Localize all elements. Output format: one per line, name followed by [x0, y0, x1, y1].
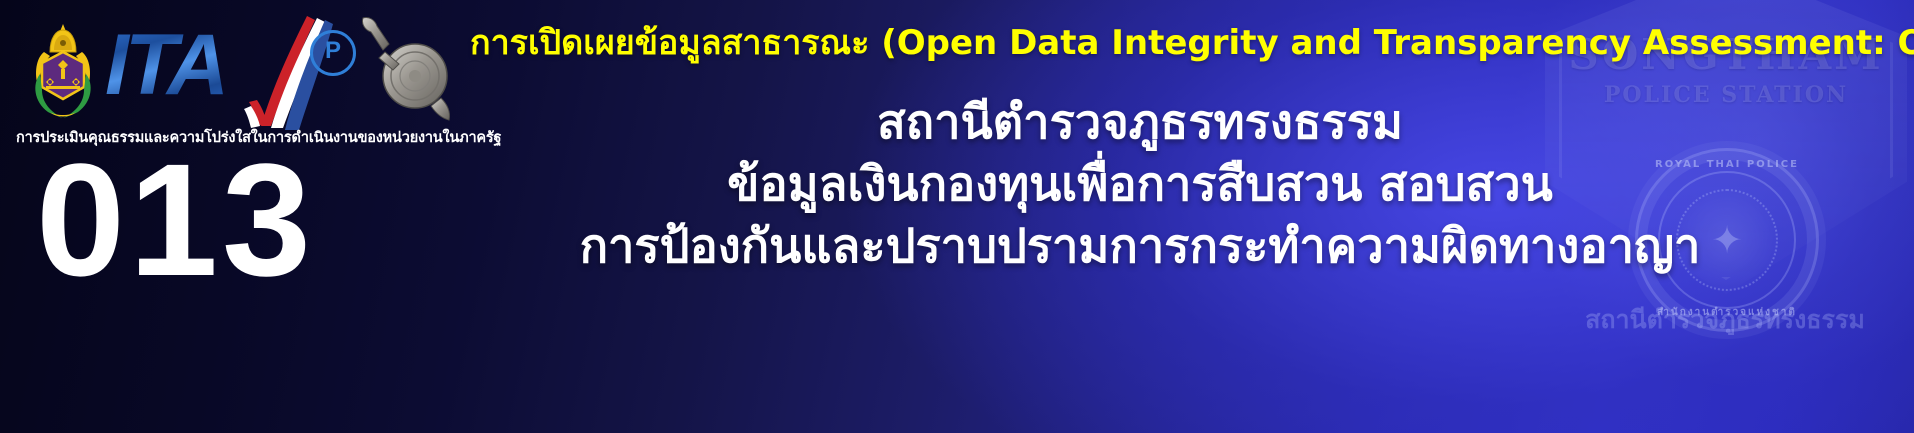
watermark-thai-caption: สถานีตำรวจภูธรทรงธรรม: [1560, 300, 1890, 340]
title-line-3: การป้องกันและปราบปรามการกระทำความผิดทางอ…: [380, 216, 1900, 278]
title-line-1: สถานีตำรวจภูธรทรงธรรม: [380, 92, 1900, 154]
banner-titles: สถานีตำรวจภูธรทรงธรรม ข้อมูลเงินกองทุนเพ…: [380, 92, 1900, 278]
oit-item-number: 013: [36, 140, 315, 300]
title-line-2: ข้อมูลเงินกองทุนเพื่อการสืบสวน สอบสวน: [380, 154, 1900, 216]
oit-banner: SONGTHAM POLICE STATION ROYAL THAI POLIC…: [0, 0, 1914, 433]
ita-registered-p-icon: P: [310, 30, 356, 76]
seal-label-bottom: สำนักงานตำรวจแห่งชาติ: [1638, 305, 1816, 320]
thai-flag-swoosh-icon: [205, 14, 335, 132]
oit-heading: การเปิดเผยข้อมูลสาธารณะ (Open Data Integ…: [470, 22, 1900, 64]
nacc-garuda-emblem-icon: [20, 22, 106, 122]
